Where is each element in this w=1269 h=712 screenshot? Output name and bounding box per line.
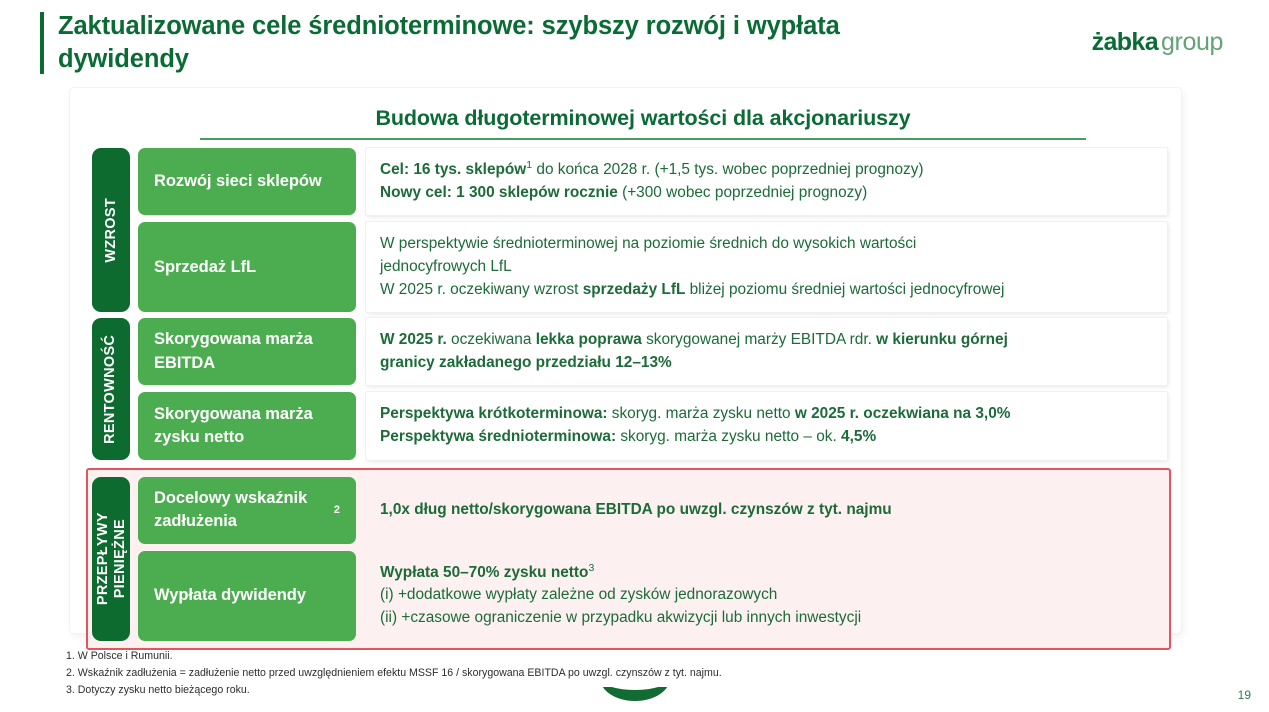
brand-smile-icon [600, 687, 670, 712]
row-content-line: W perspektywie średnioterminowej na pozi… [380, 233, 1151, 256]
row-content-line: (i) +dodatkowe wypłaty zależne od zysków… [380, 584, 1147, 607]
card-header-divider [200, 138, 1086, 140]
plain-text: jednocyfrowych LfL [380, 258, 512, 275]
footnote-line: 2. Wskaźnik zadłużenia = zadłużenie nett… [66, 665, 966, 682]
group-label-vertical: PRZEPŁYWYPIENIĘŻNE [92, 477, 130, 641]
emphasis-text: granicy zakładanego przedziału 12–13% [380, 354, 672, 371]
row-label: Sprzedaż LfL [138, 222, 356, 312]
row-label: Docelowy wskaźnik zadłużenia2 [138, 477, 356, 544]
row-content: W perspektywie średnioterminowej na pozi… [366, 222, 1167, 312]
row-content-line: Perspektywa krótkoterminowa: skoryg. mar… [380, 403, 1151, 426]
title-block: Zaktualizowane cele średnioterminowe: sz… [40, 10, 1229, 80]
row-content-line: Cel: 16 tys. sklepów1 do końca 2028 r. (… [380, 159, 1151, 182]
slide: Zaktualizowane cele średnioterminowe: sz… [0, 0, 1269, 712]
emphasis-text: W 2025 r. [380, 331, 447, 348]
card-header-title: Budowa długoterminowej wartości dla akcj… [200, 106, 1086, 131]
plain-text: (i) +dodatkowe wypłaty zależne od zysków… [380, 586, 777, 603]
groups-container: WZROSTRozwój sieci sklepówCel: 16 tys. s… [92, 148, 1167, 656]
emphasis-text: Wypłata 50–70% zysku netto [380, 564, 588, 581]
plain-text: skoryg. marża zysku netto [608, 405, 795, 422]
plain-text: (+300 wobec poprzedniej prognozy) [618, 184, 867, 201]
row-content-line: W 2025 r. oczekiwany wzrost sprzedaży Lf… [380, 279, 1151, 302]
row-content-line: Perspektywa średnioterminowa: skoryg. ma… [380, 426, 1151, 449]
table-row: Skorygowana marża EBITDAW 2025 r. oczeki… [138, 318, 1167, 385]
logo-mark-text: żabka [1092, 28, 1158, 57]
row-content-line: W 2025 r. oczekiwana lekka poprawa skory… [380, 329, 1151, 352]
row-label: Skorygowana marża EBITDA [138, 318, 356, 385]
row-label: Rozwój sieci sklepów [138, 148, 356, 215]
emphasis-text: Perspektywa krótkoterminowa: [380, 405, 608, 422]
plain-text: W perspektywie średnioterminowej na pozi… [380, 235, 916, 252]
table-row: Docelowy wskaźnik zadłużenia21,0x dług n… [138, 477, 1163, 544]
row-content: W 2025 r. oczekiwana lekka poprawa skory… [366, 318, 1167, 385]
group-label-text: WZROST [103, 198, 120, 263]
group-label-vertical: RENTOWNOŚĆ [92, 318, 130, 460]
brand-logo: żabka group [1092, 28, 1223, 57]
page-title: Zaktualizowane cele średnioterminowe: sz… [58, 10, 958, 75]
emphasis-text: 4,5% [841, 428, 876, 445]
plain-text: (ii) +czasowe ograniczenie w przypadku a… [380, 609, 861, 626]
plain-text: W 2025 r. oczekiwany wzrost [380, 281, 583, 298]
group-label-vertical: WZROST [92, 148, 130, 312]
emphasis-text: w 2025 r. oczekwiana na 3,0% [795, 405, 1011, 422]
footnote-line: 1. W Polsce i Rumunii. [66, 648, 966, 665]
group-przep-ywy-pieni-ne: PRZEPŁYWYPIENIĘŻNEDocelowy wskaźnik zadł… [86, 468, 1171, 650]
emphasis-text: Perspektywa średnioterminowa: [380, 428, 616, 445]
table-row: Wypłata dywidendyWypłata 50–70% zysku ne… [138, 551, 1163, 641]
row-content-line: 1,0x dług netto/skorygowana EBITDA po uw… [380, 499, 1147, 522]
row-content: 1,0x dług netto/skorygowana EBITDA po uw… [366, 477, 1163, 544]
emphasis-text: Nowy cel: 1 300 sklepów rocznie [380, 184, 618, 201]
logo-word-text: group [1161, 28, 1223, 57]
row-content-line: (ii) +czasowe ograniczenie w przypadku a… [380, 607, 1147, 630]
row-content: Perspektywa krótkoterminowa: skoryg. mar… [366, 392, 1167, 459]
footnote-marker: 3 [588, 562, 594, 573]
group-rows: Skorygowana marża EBITDAW 2025 r. oczeki… [138, 318, 1167, 460]
footnotes: 1. W Polsce i Rumunii.2. Wskaźnik zadłuż… [66, 648, 966, 699]
table-row: Sprzedaż LfLW perspektywie średniotermin… [138, 222, 1167, 312]
row-content-line: granicy zakładanego przedziału 12–13% [380, 352, 1151, 375]
plain-text: bliżej poziomu średniej wartości jednocy… [685, 281, 1004, 298]
group-rows: Docelowy wskaźnik zadłużenia21,0x dług n… [138, 477, 1163, 641]
plain-text: skorygowanej marży EBITDA rdr. [642, 331, 876, 348]
emphasis-text: 1,0x dług netto/skorygowana EBITDA po uw… [380, 501, 892, 518]
row-content-line: Nowy cel: 1 300 sklepów rocznie (+300 wo… [380, 182, 1151, 205]
emphasis-text: w kierunku górnej [876, 331, 1008, 348]
group-wzrost: WZROSTRozwój sieci sklepówCel: 16 tys. s… [92, 148, 1167, 312]
emphasis-text: lekka poprawa [536, 331, 642, 348]
emphasis-text: Cel: 16 tys. sklepów [380, 161, 526, 178]
plain-text: oczekiwana [447, 331, 536, 348]
emphasis-text: sprzedaży LfL [583, 281, 686, 298]
group-rentowno: RENTOWNOŚĆSkorygowana marża EBITDAW 2025… [92, 318, 1167, 460]
plain-text: skoryg. marża zysku netto – ok. [616, 428, 841, 445]
table-row: Skorygowana marża zysku nettoPerspektywa… [138, 392, 1167, 459]
content-card: Budowa długoterminowej wartości dla akcj… [70, 88, 1181, 633]
row-label: Wypłata dywidendy [138, 551, 356, 641]
footnote-line: 3. Dotyczy zysku netto bieżącego roku. [66, 682, 966, 699]
row-content: Wypłata 50–70% zysku netto3(i) +dodatkow… [366, 551, 1163, 641]
row-content: Cel: 16 tys. sklepów1 do końca 2028 r. (… [366, 148, 1167, 215]
row-content-line: Wypłata 50–70% zysku netto3 [380, 562, 1147, 585]
row-label: Skorygowana marża zysku netto [138, 392, 356, 459]
group-label-text: RENTOWNOŚĆ [103, 334, 120, 443]
plain-text: do końca 2028 r. (+1,5 tys. wobec poprze… [532, 161, 923, 178]
group-label-text: PRZEPŁYWYPIENIĘŻNE [94, 512, 127, 605]
page-number: 19 [1238, 688, 1251, 702]
card-header: Budowa długoterminowej wartości dla akcj… [200, 106, 1086, 140]
table-row: Rozwój sieci sklepówCel: 16 tys. sklepów… [138, 148, 1167, 215]
title-accent-bar [40, 12, 44, 74]
row-content-line: jednocyfrowych LfL [380, 256, 1151, 279]
group-rows: Rozwój sieci sklepówCel: 16 tys. sklepów… [138, 148, 1167, 312]
